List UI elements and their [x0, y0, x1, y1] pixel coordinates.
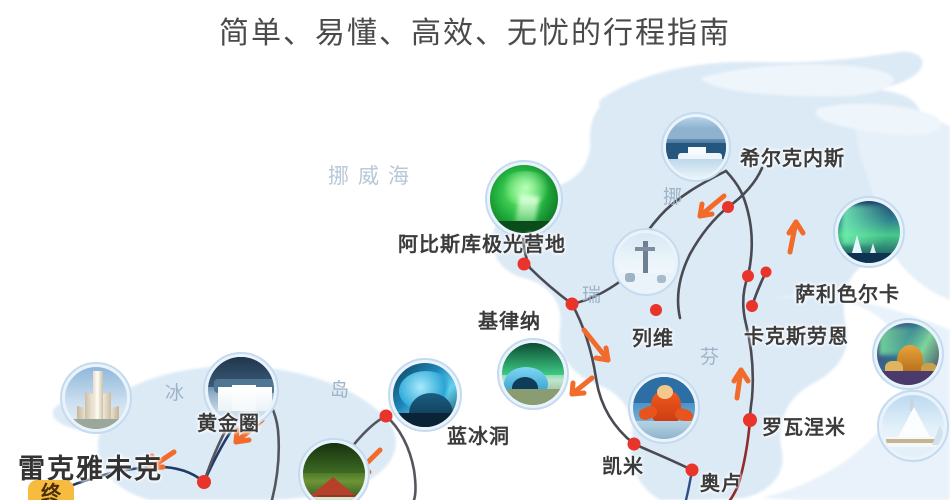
- city-label-blue-ice-cave[interactable]: 蓝冰洞: [447, 420, 510, 449]
- city-label-levi[interactable]: 列维: [632, 322, 674, 351]
- marker-blue-ice-cave: [380, 410, 393, 423]
- rovaniemi-santa-photo[interactable]: [877, 390, 949, 462]
- marker-kirkenes-node: [722, 201, 734, 213]
- country-label-iceland-1: 冰: [165, 378, 184, 405]
- marker-abisko: [518, 258, 531, 271]
- country-label-finland: 芬: [700, 342, 719, 369]
- city-label-golden-circle[interactable]: 黄金圈: [197, 407, 260, 436]
- city-label-abisko-aurora-camp[interactable]: 阿比斯库极光营地: [398, 228, 566, 257]
- city-label-kemi[interactable]: 凯米: [602, 450, 644, 479]
- city-label-kirkenes[interactable]: 希尔克内斯: [740, 142, 845, 171]
- city-label-kakslauttanen[interactable]: 卡克斯劳恩: [744, 320, 849, 349]
- country-label-sweden: 瑞: [582, 280, 601, 307]
- abisko-aurora-photo[interactable]: [485, 160, 563, 238]
- kakslauttanen-igloo-photo[interactable]: [872, 318, 944, 390]
- marker-saariselka-b: [761, 267, 772, 278]
- route-end-badge[interactable]: 终: [28, 480, 74, 500]
- kirkenes-ship-photo[interactable]: [661, 112, 731, 182]
- marker-levi: [650, 304, 662, 316]
- marker-oulu: [686, 464, 699, 477]
- levi-snow-photo[interactable]: [612, 228, 680, 296]
- kiruna-icehotel-photo[interactable]: [497, 338, 569, 410]
- travel-map-page: 简单、易懂、高效、无忧的行程指南: [0, 0, 950, 500]
- sea-label-norwegian-sea: 挪威海: [328, 160, 418, 190]
- country-label-iceland-2: 岛: [330, 375, 349, 402]
- iceland-cabin-photo[interactable]: [298, 438, 370, 500]
- city-label-rovaniemi[interactable]: 罗瓦涅米: [762, 411, 846, 440]
- marker-rovaniemi: [743, 413, 757, 427]
- city-label-kiruna[interactable]: 基律纳: [478, 305, 541, 334]
- marker-reykjavik: [197, 475, 211, 489]
- reykjavik-church-photo[interactable]: [60, 362, 132, 434]
- marker-saariselka: [742, 270, 754, 282]
- country-label-norway: 挪: [663, 182, 682, 209]
- marker-kiruna: [566, 298, 579, 311]
- kemi-icefloating-photo[interactable]: [628, 372, 700, 444]
- city-label-oulu[interactable]: 奥卢: [700, 467, 742, 496]
- marker-kemi: [628, 438, 641, 451]
- marker-kakslauttanen: [746, 300, 758, 312]
- city-label-saariselka[interactable]: 萨利色尔卡: [795, 278, 900, 307]
- saariselka-aurora-photo[interactable]: [833, 196, 905, 268]
